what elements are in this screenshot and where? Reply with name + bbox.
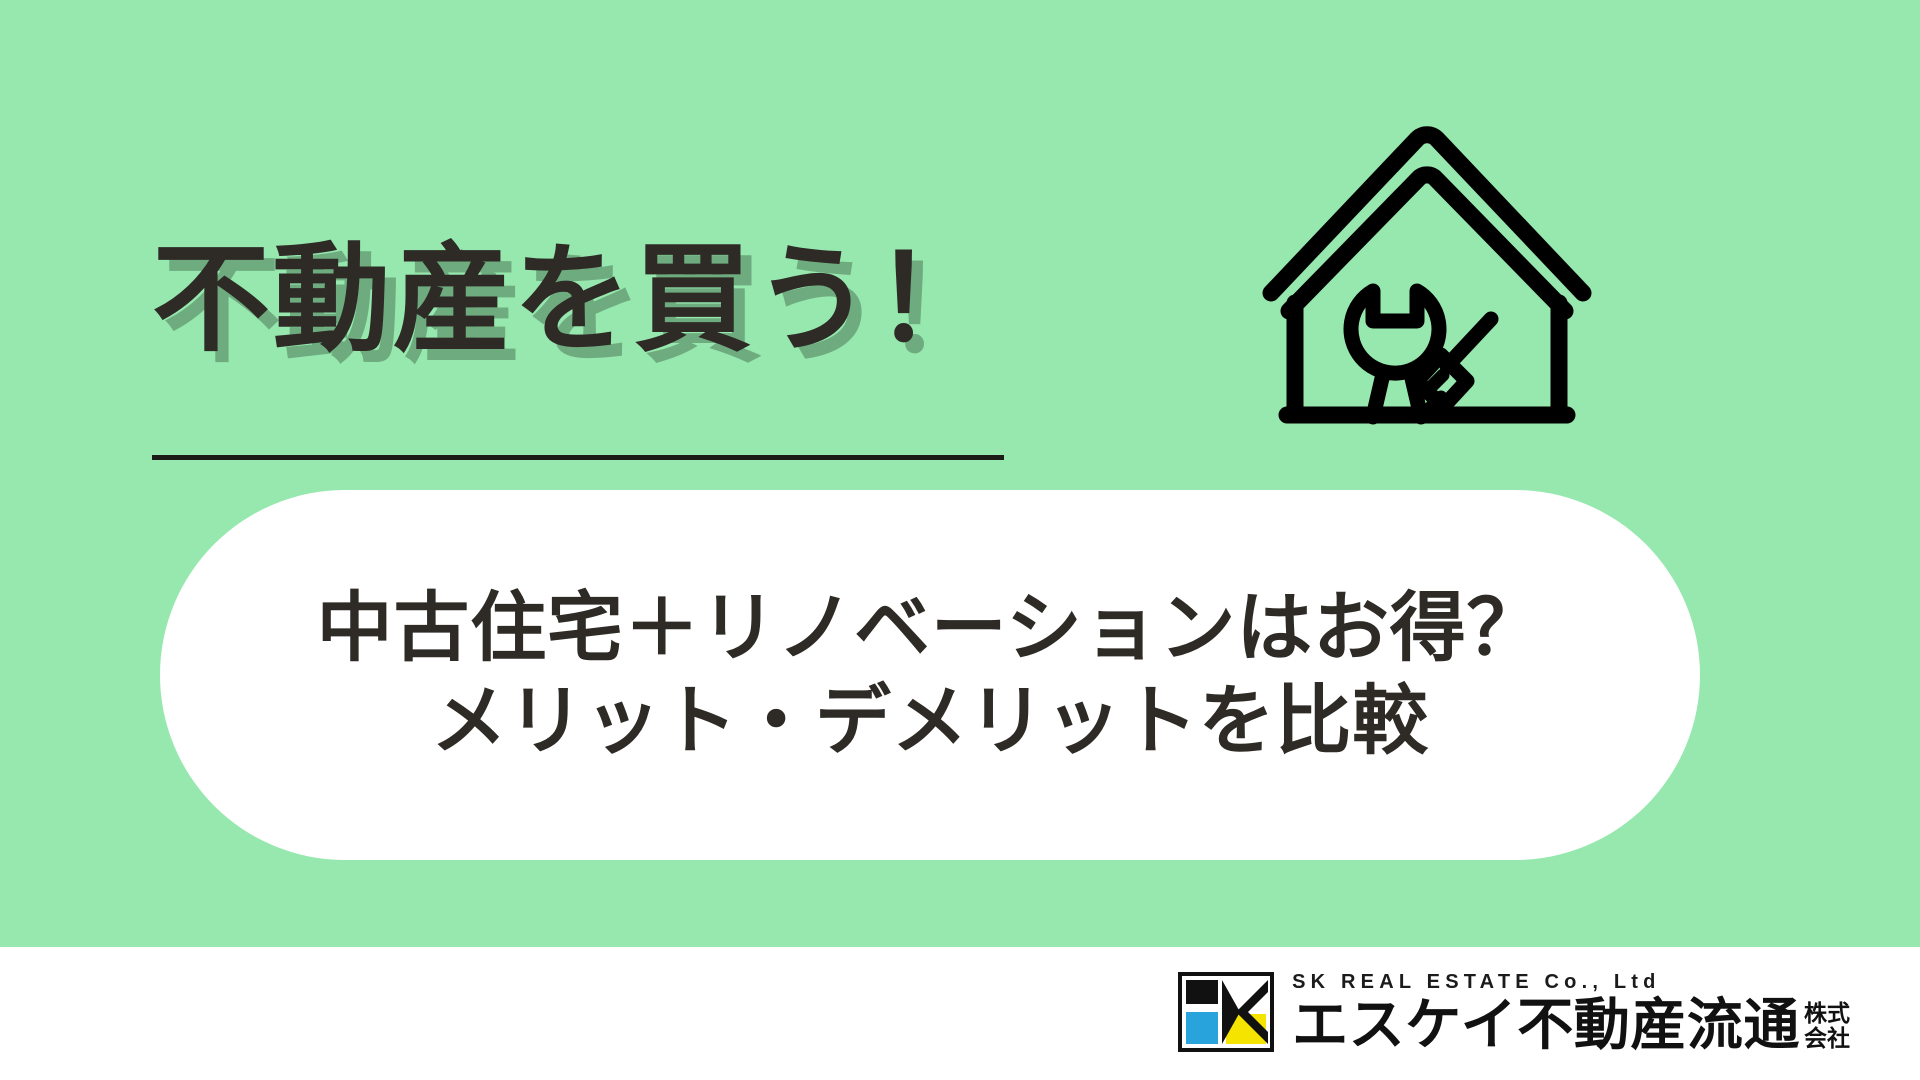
headline-block: 不動産を買う！: [152, 240, 1032, 358]
company-logo: SK REAL ESTATE Co., Ltd エスケイ不動産流通 株式 会社: [1178, 960, 1850, 1064]
logo-english-name: SK REAL ESTATE Co., Ltd: [1292, 971, 1850, 994]
logo-gaisha: 会社: [1804, 1027, 1850, 1052]
headline-divider: [152, 455, 1004, 460]
subtitle-line-1: 中古住宅＋リノベーションはお得？: [317, 582, 1544, 675]
logo-japanese-name: エスケイ不動産流通: [1292, 998, 1800, 1054]
logo-text-block: SK REAL ESTATE Co., Ltd エスケイ不動産流通 株式 会社: [1292, 971, 1850, 1054]
subtitle-line-2: メリット・デメリットを比較: [431, 675, 1429, 768]
logo-kabushiki: 株式: [1804, 1002, 1850, 1027]
sk-logo-mark-icon: [1178, 972, 1274, 1052]
house-renovation-icon: [1255, 105, 1595, 435]
subtitle-pill: 中古住宅＋リノベーションはお得？ メリット・デメリットを比較: [160, 490, 1700, 860]
logo-kabushiki-gaisha: 株式 会社: [1804, 1002, 1850, 1054]
slide-root: 不動産を買う！ 中古住宅＋リノベ: [0, 0, 1920, 1080]
house-renovation-svg: [1255, 105, 1595, 435]
sk-logo-mark-svg: [1178, 972, 1274, 1052]
logo-japanese-row: エスケイ不動産流通 株式 会社: [1292, 998, 1850, 1054]
page-title: 不動産を買う！: [152, 240, 1032, 358]
